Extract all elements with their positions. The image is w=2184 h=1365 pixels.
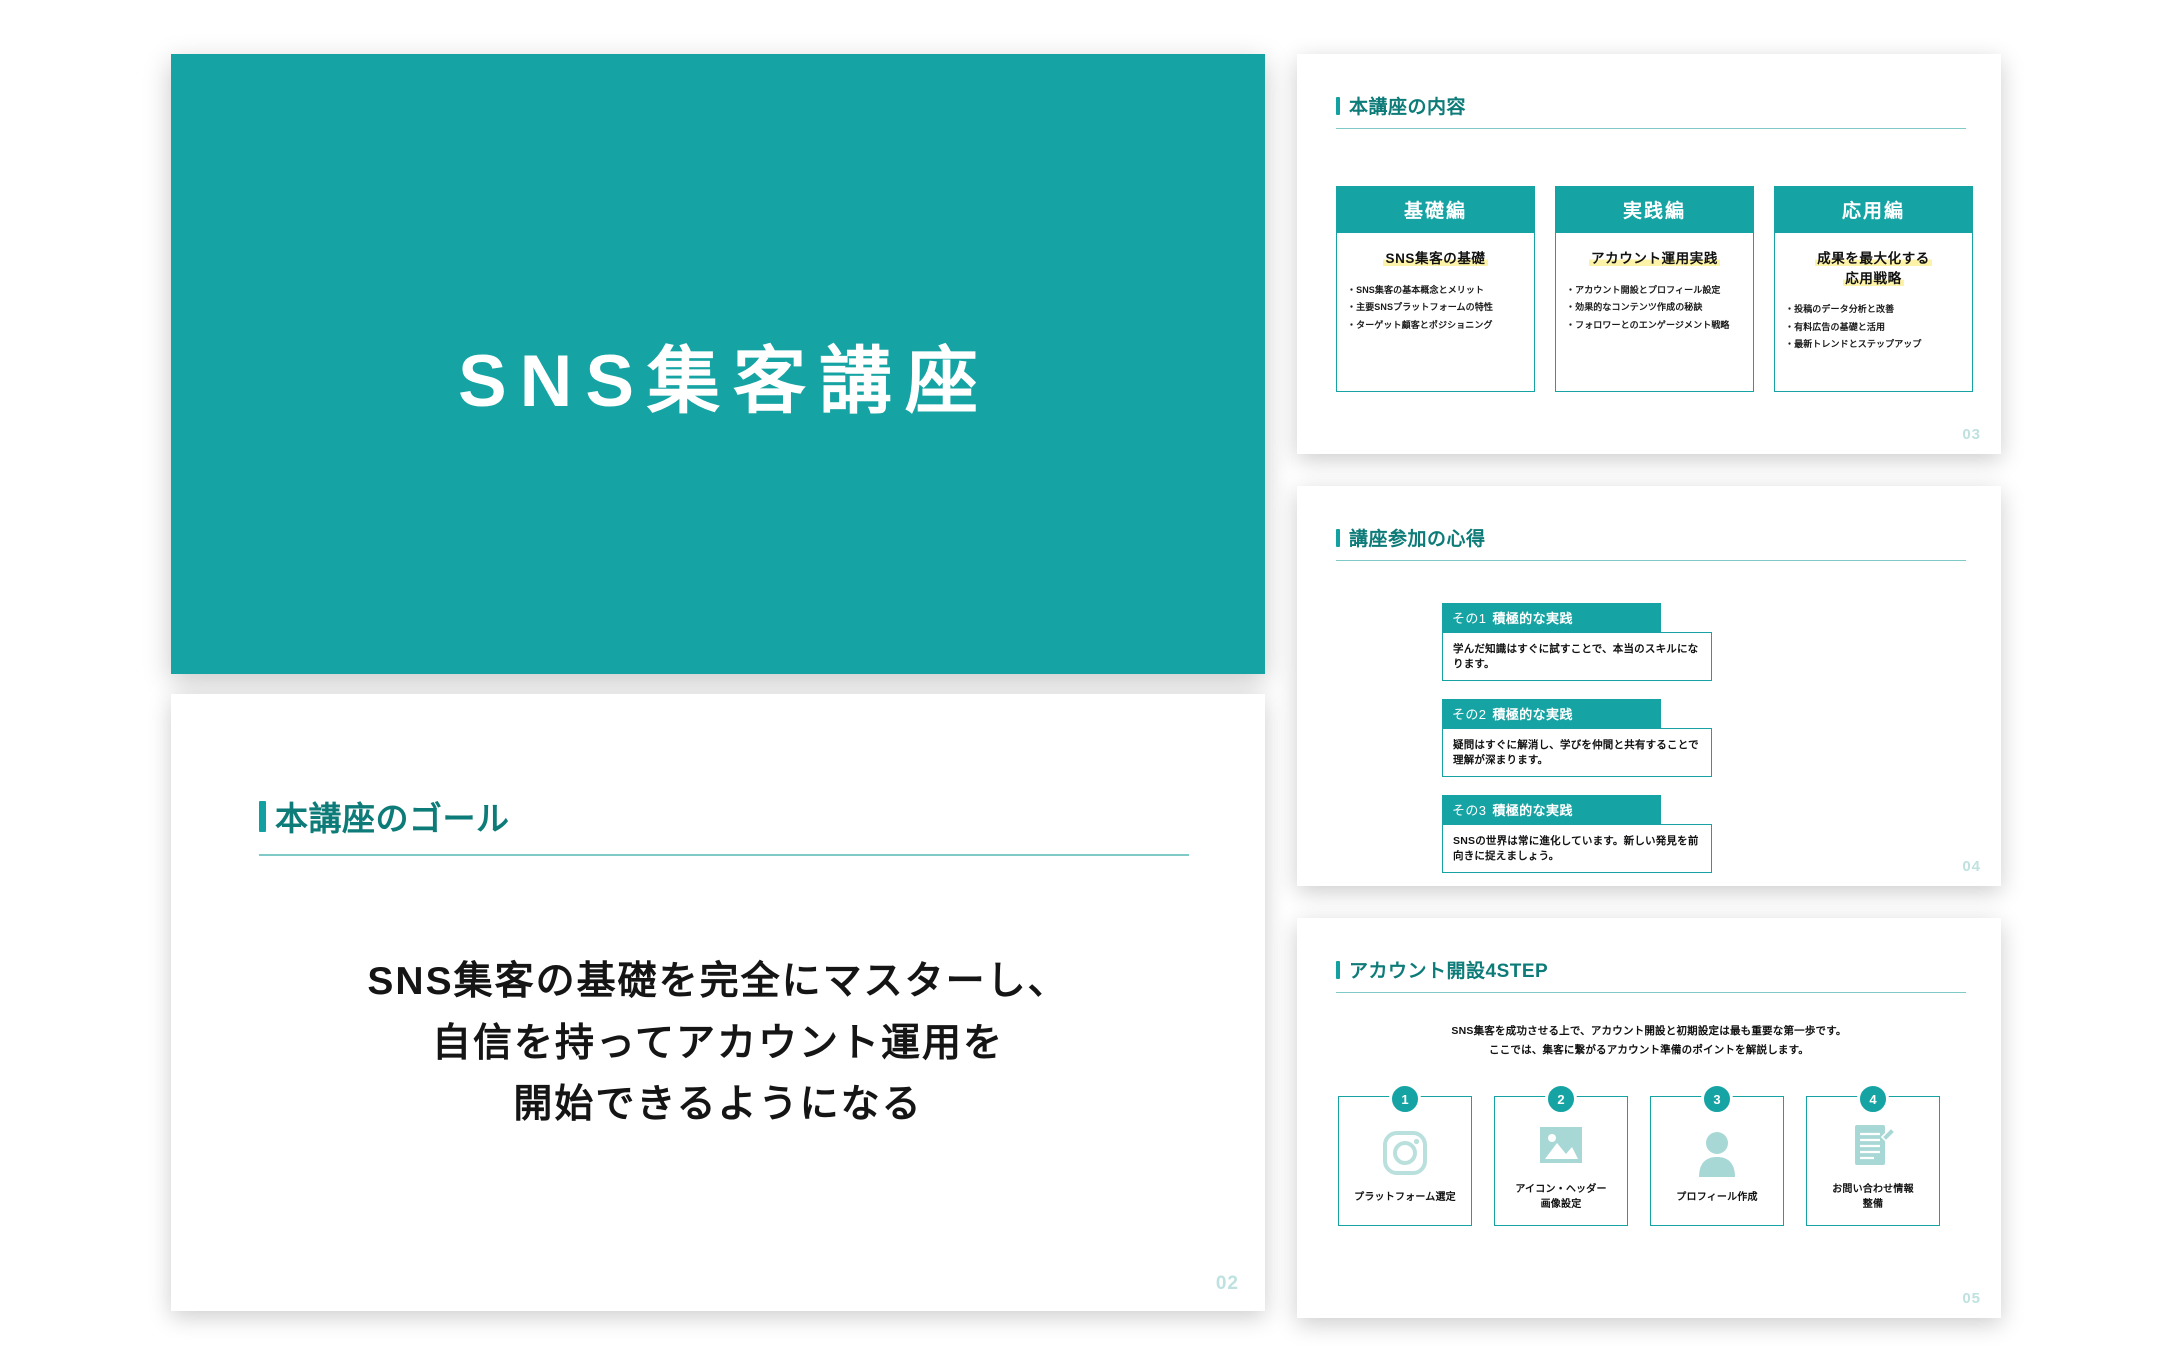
contents-heading: 本講座の内容	[1336, 92, 1966, 129]
step-box: アイコン・ヘッダー 画像設定	[1494, 1096, 1628, 1226]
contents-heading-text: 本講座の内容	[1349, 92, 1466, 119]
step-caption: お問い合わせ情報 整備	[1832, 1182, 1914, 1212]
step-box: プロフィール作成	[1650, 1096, 1784, 1226]
slide-goal[interactable]: 本講座のゴール SNS集客の基礎を完全にマスターし、 自信を持ってアカウント運用…	[171, 694, 1265, 1311]
step-number-badge: 2	[1545, 1083, 1577, 1115]
step-caption: アイコン・ヘッダー 画像設定	[1515, 1182, 1606, 1212]
heading-rule	[259, 854, 1189, 856]
mindset-item[interactable]: その3積極的な実践 SNSの世界は常に進化しています。新しい発見を前向きに捉えま…	[1442, 795, 1822, 873]
step-list: 1 プラットフォーム選定 2	[1338, 1096, 1940, 1226]
step-item[interactable]: 4	[1806, 1096, 1940, 1226]
goal-line-1: SNS集客の基礎を完全にマスターし、	[171, 951, 1265, 1013]
heading-accent-bar	[1336, 961, 1340, 979]
card-bullet: ・有料広告の基礎と活用	[1785, 319, 1962, 337]
heading-accent-bar	[1336, 529, 1340, 547]
mindset-item-text: 学んだ知識はすぐに試すことで、本当のスキルになります。	[1442, 632, 1712, 681]
step-box: お問い合わせ情報 整備	[1806, 1096, 1940, 1226]
contents-card[interactable]: 実践編 アカウント運用実践 ・アカウント開設とプロフィール設定 ・効果的なコンテ…	[1555, 186, 1754, 392]
step-number-badge: 4	[1857, 1083, 1889, 1115]
card-caption: 応用編	[1775, 187, 1972, 233]
card-bullet-list: ・SNS集客の基本概念とメリット ・主要SNSプラットフォームの特性 ・ターゲッ…	[1347, 282, 1524, 335]
contents-card[interactable]: 基礎編 SNS集客の基礎 ・SNS集客の基本概念とメリット ・主要SNSプラット…	[1336, 186, 1535, 392]
steps-heading: アカウント開設4STEP	[1336, 956, 1966, 993]
goal-line-3: 開始できるようになる	[171, 1074, 1265, 1136]
card-bullet: ・投稿のデータ分析と改善	[1785, 301, 1962, 319]
step-item[interactable]: 3 プロフィール作成	[1650, 1096, 1784, 1226]
slide-mindset[interactable]: 講座参加の心得 その1積極的な実践 学んだ知識はすぐに試すことで、本当のスキルに…	[1297, 486, 2001, 886]
heading-rule	[1336, 560, 1966, 561]
goal-heading: 本講座のゴール	[259, 792, 1189, 856]
page-number: 05	[1962, 1290, 1981, 1307]
card-bullet-list: ・アカウント開設とプロフィール設定 ・効果的なコンテンツ作成の秘訣 ・フォロワー…	[1566, 282, 1743, 335]
person-icon	[1694, 1126, 1740, 1180]
mindset-item-label: その1積極的な実践	[1442, 603, 1661, 633]
step-item[interactable]: 1 プラットフォーム選定	[1338, 1096, 1472, 1226]
heading-accent-bar	[259, 801, 266, 832]
mindset-item-label: その2積極的な実践	[1442, 699, 1661, 729]
steps-lead-line-2: ここでは、集客に繋がるアカウント準備のポイントを解説します。	[1297, 1041, 2001, 1060]
card-bullet: ・主要SNSプラットフォームの特性	[1347, 299, 1524, 317]
steps-lead-line-1: SNS集客を成功させる上で、アカウント開設と初期設定は最も重要な第一歩です。	[1297, 1022, 2001, 1041]
image-icon	[1536, 1118, 1586, 1172]
mindset-heading: 講座参加の心得	[1336, 524, 1966, 561]
step-number-badge: 3	[1701, 1083, 1733, 1115]
step-caption: プラットフォーム選定	[1354, 1190, 1456, 1205]
heading-accent-bar	[1336, 97, 1340, 115]
mindset-item-label: その3積極的な実践	[1442, 795, 1661, 825]
card-subtitle: SNS集客の基礎	[1347, 249, 1524, 269]
card-caption: 実践編	[1556, 187, 1753, 233]
card-bullet: ・ターゲット顧客とポジショニング	[1347, 317, 1524, 335]
card-body: SNS集客の基礎 ・SNS集客の基本概念とメリット ・主要SNSプラットフォーム…	[1337, 233, 1534, 391]
heading-rule	[1336, 128, 1966, 129]
mindset-item[interactable]: その1積極的な実践 学んだ知識はすぐに試すことで、本当のスキルになります。	[1442, 603, 1822, 681]
step-item[interactable]: 2 アイコン・ヘッダー 画像設定	[1494, 1096, 1628, 1226]
mindset-item-text: SNSの世界は常に進化しています。新しい発見を前向きに捉えましょう。	[1442, 824, 1712, 873]
card-bullet: ・SNS集客の基本概念とメリット	[1347, 282, 1524, 300]
step-caption: プロフィール作成	[1676, 1190, 1757, 1205]
card-bullet: ・最新トレンドとステップアップ	[1785, 336, 1962, 354]
steps-lead-text: SNS集客を成功させる上で、アカウント開設と初期設定は最も重要な第一歩です。 こ…	[1297, 1022, 2001, 1061]
mindset-item-index: その2	[1452, 707, 1486, 722]
mindset-item-title: 積極的な実践	[1492, 611, 1572, 626]
card-subtitle: 成果を最大化する 応用戦略	[1785, 249, 1962, 288]
instagram-icon	[1380, 1126, 1430, 1180]
step-number-badge: 1	[1389, 1083, 1421, 1115]
mindset-item[interactable]: その2積極的な実践 疑問はすぐに解消し、学びを仲間と共有することで理解が深まりま…	[1442, 699, 1822, 777]
heading-rule	[1336, 992, 1966, 993]
mindset-item-text: 疑問はすぐに解消し、学びを仲間と共有することで理解が深まります。	[1442, 728, 1712, 777]
contents-card[interactable]: 応用編 成果を最大化する 応用戦略 ・投稿のデータ分析と改善 ・有料広告の基礎と…	[1774, 186, 1973, 392]
card-bullet-list: ・投稿のデータ分析と改善 ・有料広告の基礎と活用 ・最新トレンドとステップアップ	[1785, 301, 1962, 354]
slide-account-steps[interactable]: アカウント開設4STEP SNS集客を成功させる上で、アカウント開設と初期設定は…	[1297, 918, 2001, 1318]
card-subtitle: アカウント運用実践	[1566, 249, 1743, 269]
steps-heading-text: アカウント開設4STEP	[1349, 956, 1548, 983]
document-edit-icon	[1849, 1118, 1897, 1172]
step-box: プラットフォーム選定	[1338, 1096, 1472, 1226]
mindset-item-index: その1	[1452, 611, 1486, 626]
mindset-item-title: 積極的な実践	[1492, 707, 1572, 722]
goal-heading-text: 本講座のゴール	[275, 792, 510, 840]
slide-contents[interactable]: 本講座の内容 基礎編 SNS集客の基礎 ・SNS集客の基本概念とメリット ・主要…	[1297, 54, 2001, 454]
page-number: 03	[1962, 426, 1981, 443]
page-number: 02	[1216, 1273, 1239, 1295]
mindset-item-index: その3	[1452, 803, 1486, 818]
mindset-list: その1積極的な実践 学んだ知識はすぐに試すことで、本当のスキルになります。 その…	[1442, 603, 1822, 891]
goal-line-2: 自信を持ってアカウント運用を	[171, 1013, 1265, 1075]
card-caption: 基礎編	[1337, 187, 1534, 233]
slide-deck-overview: SNS集客講座 本講座のゴール SNS集客の基礎を完全にマスターし、 自信を持っ…	[0, 0, 2184, 1365]
card-bullet: ・フォロワーとのエンゲージメント戦略	[1566, 317, 1743, 335]
card-bullet: ・アカウント開設とプロフィール設定	[1566, 282, 1743, 300]
card-bullet: ・効果的なコンテンツ作成の秘訣	[1566, 299, 1743, 317]
contents-card-list: 基礎編 SNS集客の基礎 ・SNS集客の基本概念とメリット ・主要SNSプラット…	[1336, 186, 1973, 392]
slide-title[interactable]: SNS集客講座	[171, 54, 1265, 674]
card-body: 成果を最大化する 応用戦略 ・投稿のデータ分析と改善 ・有料広告の基礎と活用 ・…	[1775, 233, 1972, 391]
slide-title-text: SNS集客講座	[171, 322, 1265, 428]
mindset-item-title: 積極的な実践	[1492, 803, 1572, 818]
goal-body: SNS集客の基礎を完全にマスターし、 自信を持ってアカウント運用を 開始できるよ…	[171, 951, 1265, 1136]
page-number: 04	[1962, 858, 1981, 875]
mindset-heading-text: 講座参加の心得	[1349, 524, 1486, 551]
card-body: アカウント運用実践 ・アカウント開設とプロフィール設定 ・効果的なコンテンツ作成…	[1556, 233, 1753, 391]
